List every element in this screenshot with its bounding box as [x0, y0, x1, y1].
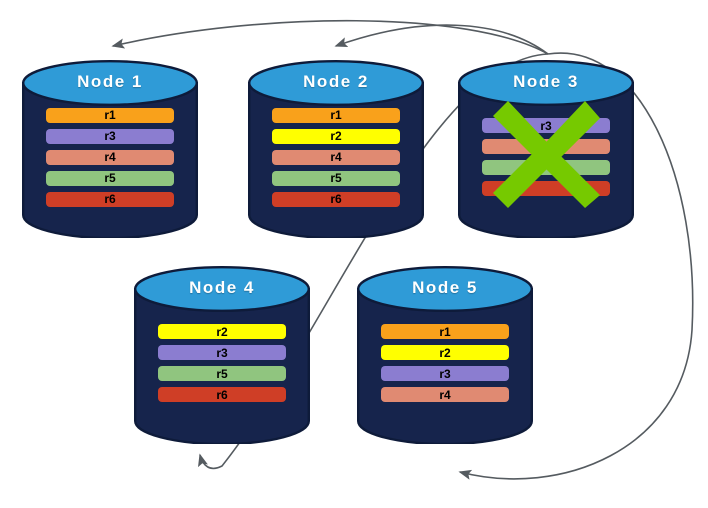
- node-2[interactable]: Node 2r1r2r4r5r6: [248, 60, 424, 238]
- node-2-shard-r2[interactable]: r2: [272, 129, 400, 144]
- node-2-shard-r1[interactable]: r1: [272, 108, 400, 123]
- node-1-top-cap: [23, 61, 197, 105]
- shard-gap: [46, 144, 174, 150]
- node-5-shard-r3[interactable]: r3: [381, 366, 509, 381]
- shard-gap: [272, 186, 400, 192]
- node-3-shard-list: r3: [458, 118, 634, 196]
- node-2-top-cap: [249, 61, 423, 105]
- node-5-shard-list: r1r2r3r4: [357, 324, 533, 402]
- node-4-shard-r6[interactable]: r6: [158, 387, 286, 402]
- shard-gap: [272, 144, 400, 150]
- arrow-node3-to-node1: [113, 21, 548, 54]
- node-2-shard-r6[interactable]: r6: [272, 192, 400, 207]
- node-5-shard-r4[interactable]: r4: [381, 387, 509, 402]
- node-3-shard-r3[interactable]: r3: [482, 118, 610, 133]
- node-1-shard-r1[interactable]: r1: [46, 108, 174, 123]
- node-2-shard-r4[interactable]: r4: [272, 150, 400, 165]
- node-2-shard-r5[interactable]: r5: [272, 171, 400, 186]
- node-3[interactable]: Node 3r3: [458, 60, 634, 238]
- shard-gap: [46, 165, 174, 171]
- node-5-shard-r1[interactable]: r1: [381, 324, 509, 339]
- node-4[interactable]: Node 4r2r3r5r6: [134, 266, 310, 444]
- shard-gap: [272, 165, 400, 171]
- node-1[interactable]: Node 1r1r3r4r5r6: [22, 60, 198, 238]
- node-3-top-cap: [459, 61, 633, 105]
- node-1-shard-list: r1r3r4r5r6: [22, 108, 198, 207]
- node-1-shard-r3[interactable]: r3: [46, 129, 174, 144]
- arrow-node3-to-node2: [336, 25, 548, 54]
- node-5-top-cap: [358, 267, 532, 311]
- node-3-shard-r5[interactable]: [482, 160, 610, 175]
- node-5-shard-r2[interactable]: r2: [381, 345, 509, 360]
- node-4-shard-r5[interactable]: r5: [158, 366, 286, 381]
- node-5[interactable]: Node 5r1r2r3r4: [357, 266, 533, 444]
- diagram-canvas: Node 1r1r3r4r5r6Node 2r1r2r4r5r6Node 3r3…: [0, 0, 708, 508]
- shard-gap: [272, 123, 400, 129]
- node-1-shard-r4[interactable]: r4: [46, 150, 174, 165]
- shard-gap: [46, 123, 174, 129]
- node-3-shard-r4[interactable]: [482, 139, 610, 154]
- node-1-shard-r5[interactable]: r5: [46, 171, 174, 186]
- node-4-shard-list: r2r3r5r6: [134, 324, 310, 402]
- node-4-shard-r2[interactable]: r2: [158, 324, 286, 339]
- node-2-shard-list: r1r2r4r5r6: [248, 108, 424, 207]
- node-4-top-cap: [135, 267, 309, 311]
- shard-gap: [46, 186, 174, 192]
- node-1-shard-r6[interactable]: r6: [46, 192, 174, 207]
- node-3-shard-r6[interactable]: [482, 181, 610, 196]
- node-4-shard-r3[interactable]: r3: [158, 345, 286, 360]
